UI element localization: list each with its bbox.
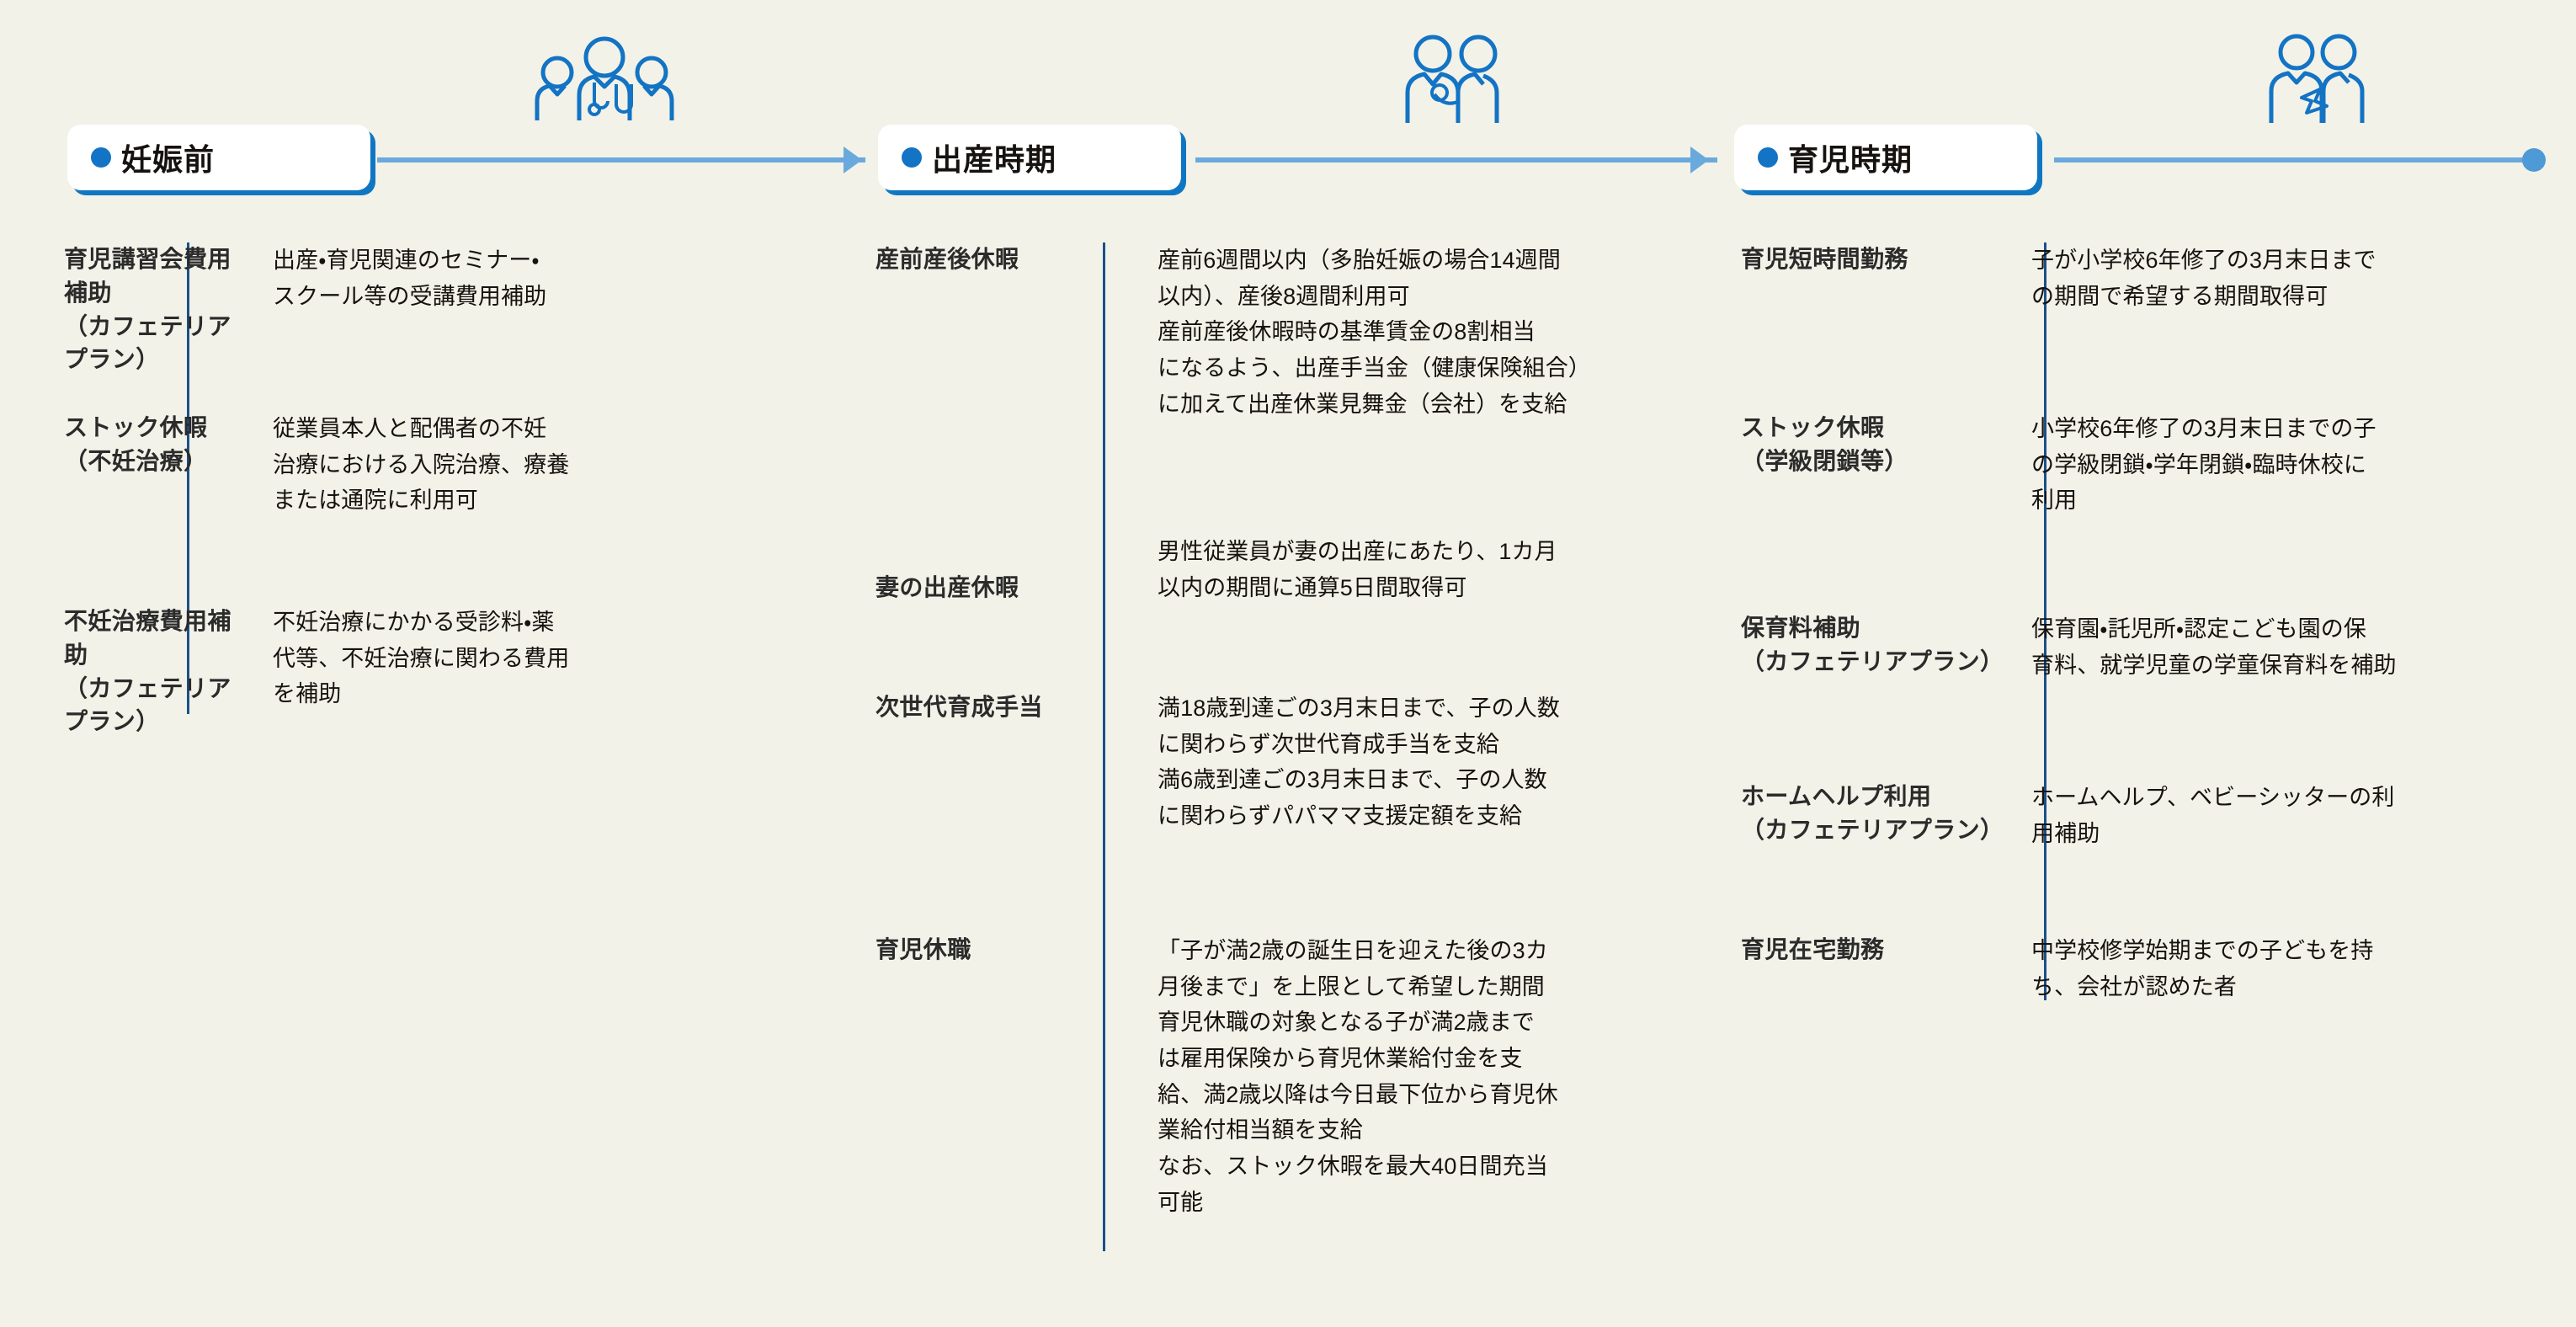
infographic-root: 妊娠前 出産時期 育児時期 育児講習会費用補助 （カフェテリアプラン） 出産・育… xyxy=(0,0,2576,1327)
benefit-description: 中学校修学始期までの子どもを持 ち、会社が認めた者 xyxy=(2031,933,2553,1005)
timeline-arrow-2 xyxy=(1690,147,1709,173)
benefit-term: ストック休暇 （不妊治療） xyxy=(64,411,258,478)
benefit-row: 育児休職 「子が満2歳の誕生日を迎えた後の3カ 月後まで」を上限として希望した期… xyxy=(876,933,1696,1220)
benefit-term: 保育料補助 （カフェテリアプラン） xyxy=(1741,611,2014,679)
parent-holding-baby-icon xyxy=(1387,32,1522,129)
bullet-dot-icon xyxy=(91,147,111,168)
benefit-description: 保育園・託児所・認定こども園の保 育料、就学児童の学童保育料を補助 xyxy=(2031,611,2553,683)
timeline: 妊娠前 出産時期 育児時期 xyxy=(0,0,2576,219)
benefit-description: 「子が満2歳の誕生日を迎えた後の3カ 月後まで」を上限として希望した期間 育児休… xyxy=(1158,933,1696,1220)
benefit-row: 産前産後休暇 産前6週間以内（多胎妊娠の場合14週間 以内）、産後8週間利用可 … xyxy=(876,242,1696,422)
benefit-term: 育児講習会費用補助 （カフェテリアプラン） xyxy=(64,242,258,376)
stage-label: 妊娠前 xyxy=(121,136,215,179)
benefit-row: 次世代育成手当 満18歳到達ごの3月末日まで、子の人数 に関わらず次世代育成手当… xyxy=(876,690,1696,834)
benefit-description: 小学校6年修了の3月末日までの子 の学級閉鎖・学年閉鎖・臨時休校に 利用 xyxy=(2031,411,2553,519)
timeline-connector-1 xyxy=(377,157,865,163)
benefit-row: 不妊治療費用補助 （カフェテリアプラン） 不妊治療にかかる受診料・薬 代等、不妊… xyxy=(64,605,668,738)
stage-chip-childbirth[interactable]: 出産時期 xyxy=(878,125,1181,190)
benefit-description: 出産・育児関連のセミナー・ スクール等の受講費用補助 xyxy=(273,242,668,314)
medical-team-icon xyxy=(520,32,689,129)
benefit-row: 保育料補助 （カフェテリアプラン） 保育園・託児所・認定こども園の保 育料、就学… xyxy=(1741,611,2553,683)
benefit-row: 育児在宅勤務 中学校修学始期までの子どもを持 ち、会社が認めた者 xyxy=(1741,933,2553,1005)
stage-chip-pre-pregnancy[interactable]: 妊娠前 xyxy=(67,125,370,190)
benefit-term: ストック休暇 （学級閉鎖等） xyxy=(1741,411,2014,478)
benefit-term: ホームヘルプ利用 （カフェテリアプラン） xyxy=(1741,780,2014,847)
benefit-row: ストック休暇 （不妊治療） 従業員本人と配偶者の不妊 治療における入院治療、療養… xyxy=(64,411,668,519)
timeline-end-dot xyxy=(2522,148,2546,172)
benefit-term: 次世代育成手当 xyxy=(876,690,1141,724)
timeline-connector-2 xyxy=(1195,157,1717,163)
benefit-term: 育児在宅勤務 xyxy=(1741,933,2014,967)
bullet-dot-icon xyxy=(1758,147,1778,168)
timeline-arrow-1 xyxy=(844,147,862,173)
bullet-dot-icon xyxy=(902,147,922,168)
benefit-term: 育児短時間勤務 xyxy=(1741,242,2014,276)
benefit-row: 育児講習会費用補助 （カフェテリアプラン） 出産・育児関連のセミナー・ スクール… xyxy=(64,242,668,376)
benefit-term: 育児休職 xyxy=(876,933,1141,967)
benefit-term: 産前産後休暇 xyxy=(876,242,1141,276)
benefit-row: 育児短時間勤務 子が小学校6年修了の3月末日まで の期間で希望する期間取得可 xyxy=(1741,242,2553,314)
parent-and-child-icon xyxy=(2249,32,2384,129)
benefit-description: 満18歳到達ごの3月末日まで、子の人数 に関わらず次世代育成手当を支給 満6歳到… xyxy=(1158,690,1696,834)
stage-label: 育児時期 xyxy=(1788,136,1913,179)
benefit-description: 男性従業員が妻の出産にあたり、1カ月 以内の期間に通算5日間取得可 xyxy=(1158,534,1696,605)
benefit-description: 子が小学校6年修了の3月末日まで の期間で希望する期間取得可 xyxy=(2031,242,2553,314)
timeline-connector-3 xyxy=(2054,157,2534,163)
stage-label: 出産時期 xyxy=(932,136,1056,179)
benefit-description: 不妊治療にかかる受診料・薬 代等、不妊治療に関わる費用 を補助 xyxy=(273,605,668,712)
benefit-description: 産前6週間以内（多胎妊娠の場合14週間 以内）、産後8週間利用可 産前産後休暇時… xyxy=(1158,242,1696,422)
benefit-row: ホームヘルプ利用 （カフェテリアプラン） ホームヘルプ、ベビーシッターの利 用補… xyxy=(1741,780,2553,851)
benefit-row: 妻の出産休暇 男性従業員が妻の出産にあたり、1カ月 以内の期間に通算5日間取得可 xyxy=(876,534,1696,605)
benefit-description: ホームヘルプ、ベビーシッターの利 用補助 xyxy=(2031,780,2553,851)
benefit-term: 不妊治療費用補助 （カフェテリアプラン） xyxy=(64,605,258,738)
benefit-description: 従業員本人と配偶者の不妊 治療における入院治療、療養 または通院に利用可 xyxy=(273,411,668,519)
benefit-term: 妻の出産休暇 xyxy=(876,534,1141,605)
stage-chip-childcare[interactable]: 育児時期 xyxy=(1734,125,2037,190)
benefit-row: ストック休暇 （学級閉鎖等） 小学校6年修了の3月末日までの子 の学級閉鎖・学年… xyxy=(1741,411,2553,519)
